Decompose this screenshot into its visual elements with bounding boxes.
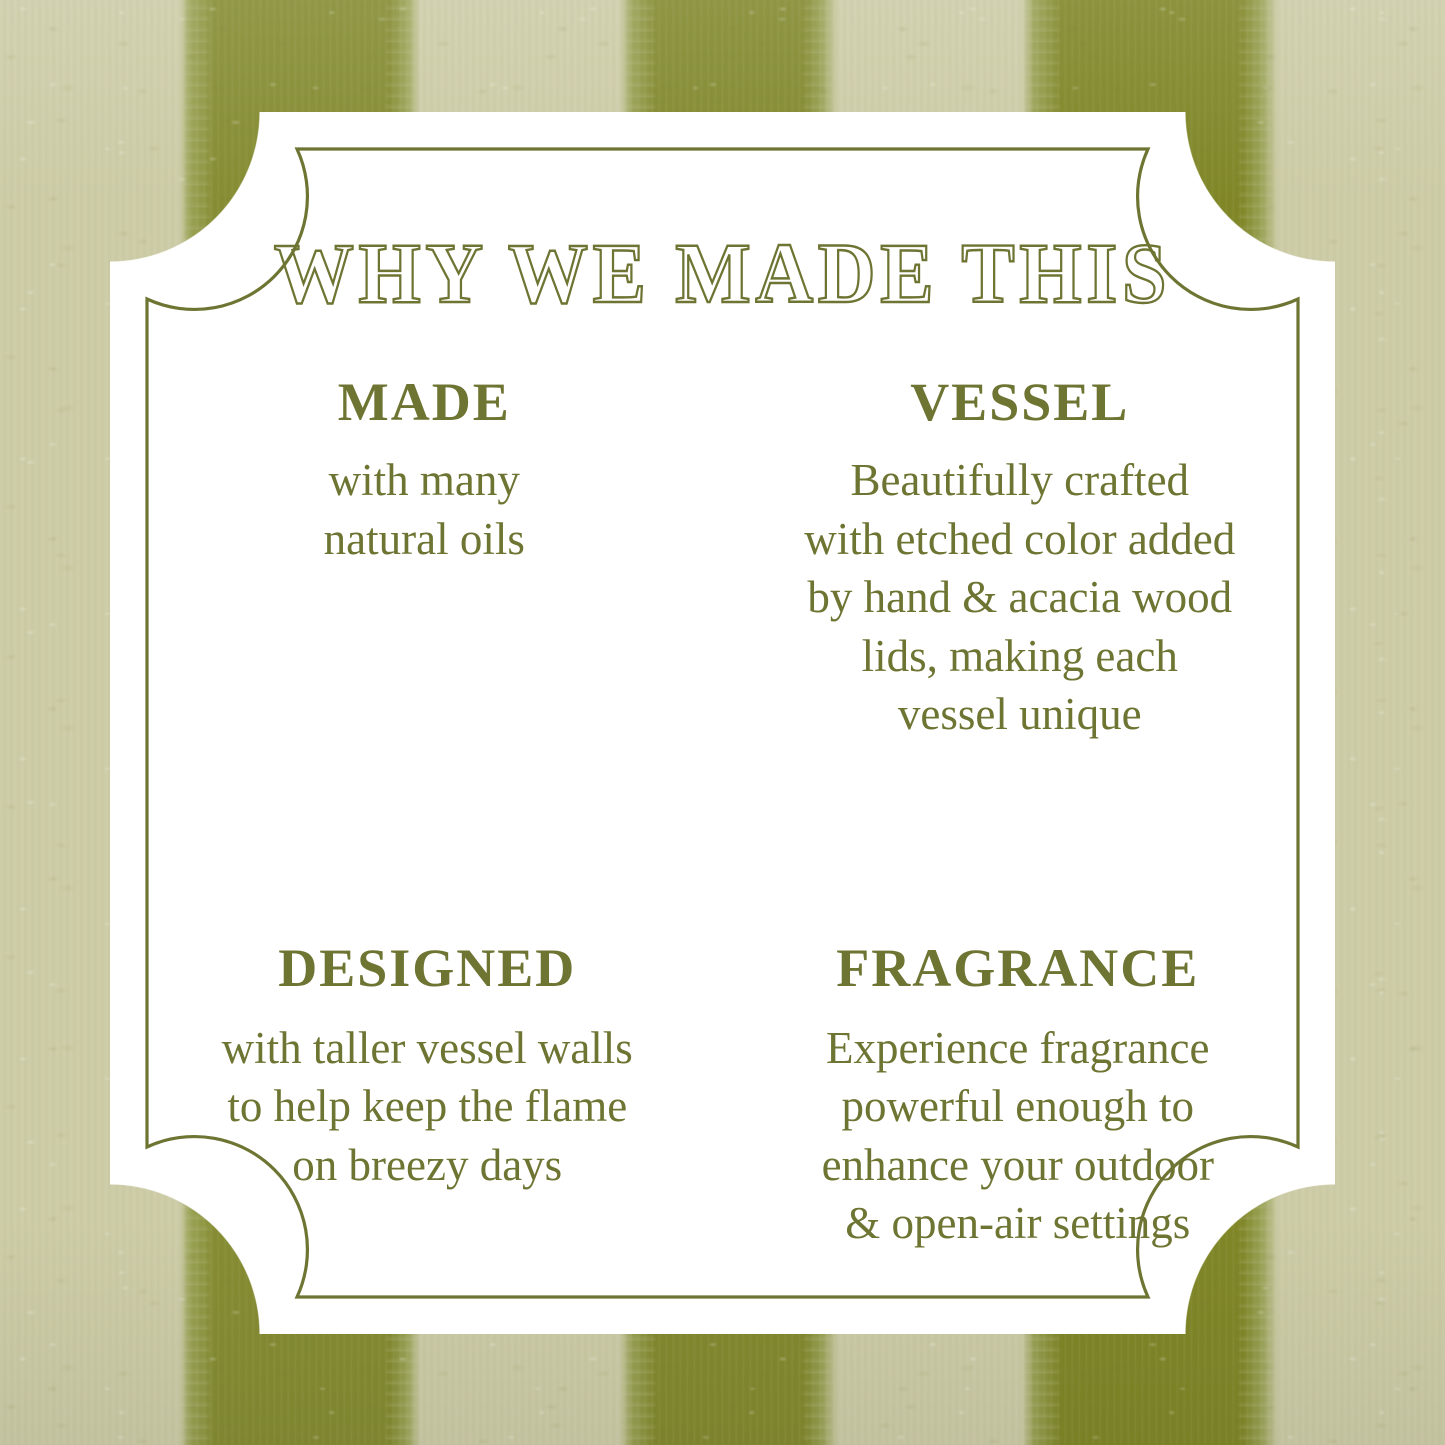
feature-grid: MADE with many natural oils VESSEL Beaut… <box>148 374 1297 1253</box>
feature-vessel-body: Beautifully crafted with etched color ad… <box>751 451 1290 744</box>
feature-made: MADE with many natural oils <box>148 374 723 744</box>
feature-made-line-2: natural oils <box>158 510 691 569</box>
feature-vessel: VESSEL Beautifully crafted with etched c… <box>723 374 1298 744</box>
feature-made-line-1: with many <box>158 451 691 510</box>
feature-vessel-heading: VESSEL <box>751 374 1290 431</box>
feature-row-bottom: DESIGNED with taller vessel walls to hel… <box>148 940 1297 1253</box>
feature-designed-line-3: on breezy days <box>148 1136 707 1195</box>
feature-fragrance: FRAGRANCE Experience fragrance powerful … <box>723 940 1298 1253</box>
feature-fragrance-body: Experience fragrance powerful enough to … <box>739 1019 1298 1253</box>
feature-vessel-line-2: with etched color added <box>751 510 1290 569</box>
feature-vessel-line-5: vessel unique <box>751 685 1290 744</box>
page-title: WHY WE MADE THIS <box>153 230 1292 316</box>
feature-vessel-line-1: Beautifully crafted <box>751 451 1290 510</box>
card-content: WHY WE MADE THIS MADE with many natural … <box>110 112 1335 1334</box>
feature-fragrance-heading: FRAGRANCE <box>739 940 1298 997</box>
feature-designed-body: with taller vessel walls to help keep th… <box>148 1019 707 1195</box>
feature-designed-line-1: with taller vessel walls <box>148 1019 707 1078</box>
feature-row-top: MADE with many natural oils VESSEL Beaut… <box>148 374 1297 744</box>
feature-fragrance-line-4: & open-air settings <box>739 1194 1298 1253</box>
feature-vessel-line-3: by hand & acacia wood <box>751 568 1290 627</box>
feature-vessel-line-4: lids, making each <box>751 627 1290 686</box>
feature-designed: DESIGNED with taller vessel walls to hel… <box>148 940 723 1253</box>
info-card: WHY WE MADE THIS MADE with many natural … <box>110 112 1335 1334</box>
feature-made-heading: MADE <box>158 374 691 431</box>
feature-designed-line-2: to help keep the flame <box>148 1077 707 1136</box>
feature-fragrance-line-2: powerful enough to <box>739 1077 1298 1136</box>
feature-made-body: with many natural oils <box>158 451 691 568</box>
product-info-graphic: WHY WE MADE THIS MADE with many natural … <box>0 0 1445 1445</box>
feature-designed-heading: DESIGNED <box>148 940 707 997</box>
feature-fragrance-line-3: enhance your outdoor <box>739 1136 1298 1195</box>
feature-fragrance-line-1: Experience fragrance <box>739 1019 1298 1078</box>
